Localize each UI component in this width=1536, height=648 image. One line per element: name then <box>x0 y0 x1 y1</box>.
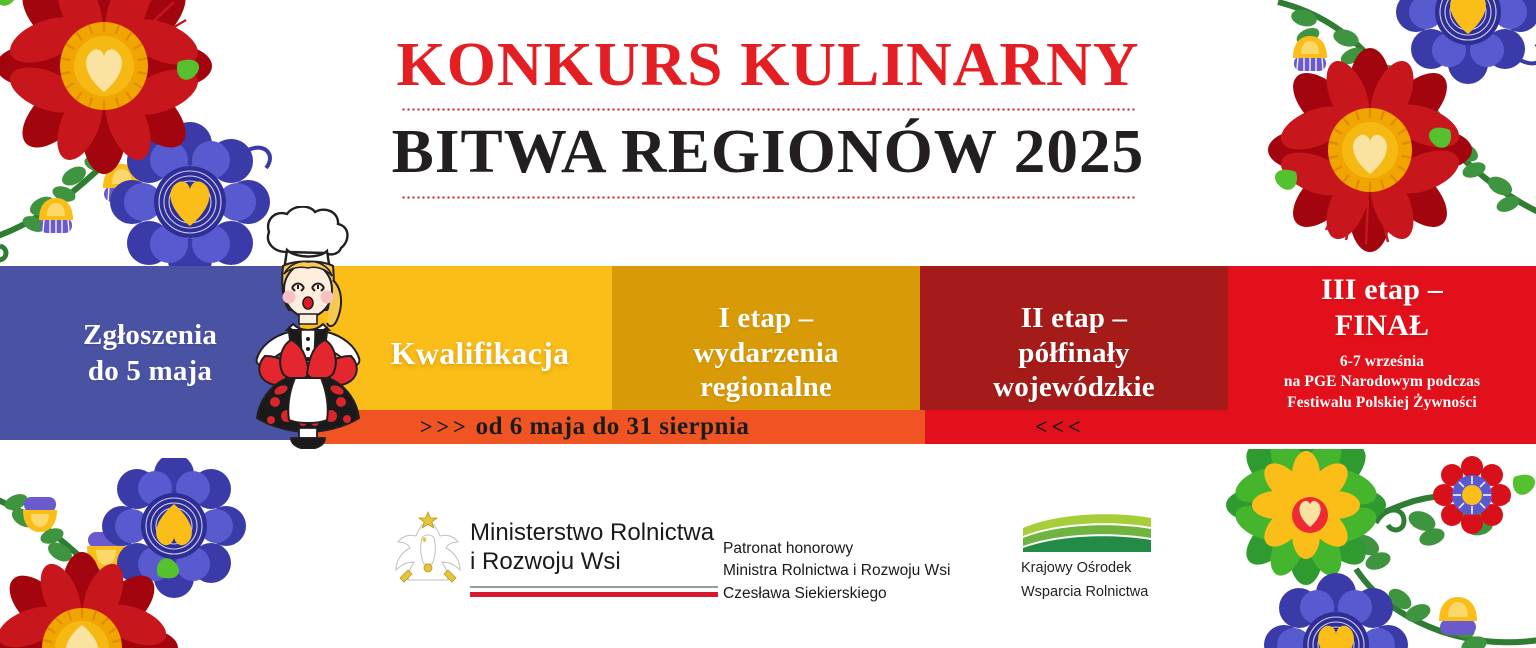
kowr-name-line1: Krajowy Ośrodek <box>1021 559 1153 578</box>
final-note-date: 6-7 września <box>1284 352 1480 372</box>
timeline-dates: od 6 maja do 31 sierpnia <box>476 413 750 441</box>
page-title-sub: BITWA REGIONÓW 2025 <box>392 121 1145 184</box>
timeline-date-strip: >>> od 6 maja do 31 sierpnia <<< <box>0 410 1536 444</box>
page-title-main: KONKURS KULINARNY <box>392 34 1145 97</box>
kowr-logo: Krajowy Ośrodek Wsparcia Rolnictwa <box>1021 514 1153 602</box>
stage-etap1-line1: I etap – <box>693 301 838 336</box>
folk-chef-girl-mascot <box>243 206 385 449</box>
kowr-wave-mark-icon <box>1021 514 1153 554</box>
stage-etap2-line3: wojewódzkie <box>993 370 1155 405</box>
stage-etap1-line2: wydarzenia <box>693 336 838 371</box>
stage-etap3-line2: FINAŁ <box>1321 308 1443 343</box>
ministry-name-line2: i Rozwoju Wsi <box>470 547 718 576</box>
ministry-logo-rules <box>470 586 718 597</box>
kowr-name-line2: Wsparcia Rolnictwa <box>1021 583 1153 602</box>
final-note-venue: na PGE Narodowym podczas <box>1284 372 1480 392</box>
title-dotted-divider-bottom <box>401 196 1135 199</box>
title-dotted-divider-top <box>401 108 1135 111</box>
timeline-red-segment: <<< <box>925 410 1228 444</box>
ministry-name-line1: Ministerstwo Rolnictwa <box>470 518 718 547</box>
poster-title-block: KONKURS KULINARNY BITWA REGIONÓW 2025 <box>0 34 1536 199</box>
patronage-line1: Patronat honorowy <box>723 538 950 560</box>
poster-root: KONKURS KULINARNY BITWA REGIONÓW 2025 Zg… <box>0 0 1536 648</box>
timeline-orange-segment: >>> od 6 maja do 31 sierpnia <box>300 410 925 444</box>
stage-zgloszenia-line1: Zgłoszenia <box>83 317 217 353</box>
timeline-red-segment-final <box>1228 410 1536 444</box>
arrows-left-icon: <<< <box>1035 410 1085 444</box>
stage-zgloszenia-line2: do 5 maja <box>83 353 217 389</box>
stage-etap2-line2: półfinały <box>993 336 1155 371</box>
stage-etap2-line1: II etap – <box>993 301 1155 336</box>
stage-kwalifikacja-label: Kwalifikacja <box>391 334 569 372</box>
patronage-text: Patronat honorowy Ministra Rolnictwa i R… <box>723 538 950 605</box>
stage-etap1-line3: regionalne <box>693 370 838 405</box>
patronage-line3: Czesława Siekierskiego <box>723 583 950 605</box>
ministry-logo: Ministerstwo Rolnictwa i Rozwoju Wsi <box>392 508 718 597</box>
footer-logos: Ministerstwo Rolnictwa i Rozwoju Wsi Pat… <box>0 500 1536 610</box>
polish-eagle-emblem-icon <box>392 508 464 592</box>
patronage-line2: Ministra Rolnictwa i Rozwoju Wsi <box>723 560 950 582</box>
stage-etap3-line1: III etap – <box>1321 272 1443 307</box>
chef-hat-icon <box>268 207 348 269</box>
